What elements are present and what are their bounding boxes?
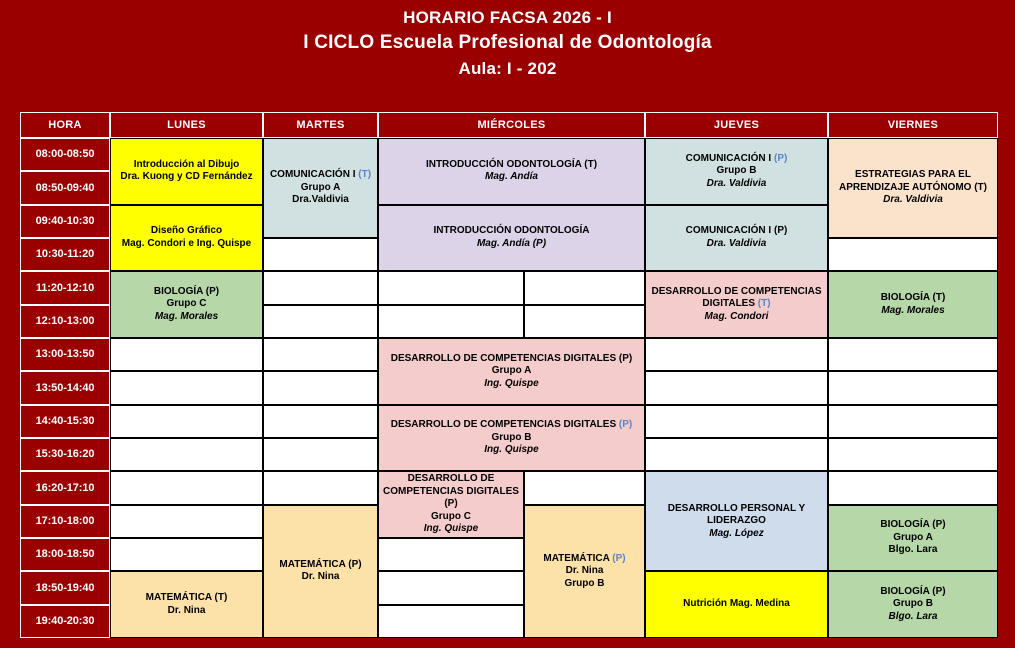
- schedule-entry-line: LIDERAZGO: [648, 515, 825, 528]
- empty-slot[interactable]: [263, 405, 378, 438]
- schedule-entry-line: BIOLOGÍA (T): [831, 292, 995, 305]
- schedule-entry-line: Dr. Nina: [266, 571, 375, 584]
- schedule-entry-line: Mag. Condori: [648, 311, 825, 324]
- schedule-entry-line: Grupo B: [648, 165, 825, 178]
- hour-label-cell: 10:30-11:20: [20, 238, 110, 271]
- schedule-entry-line: Ing. Quispe: [381, 444, 642, 457]
- column-header-label: LUNES: [113, 119, 260, 132]
- hour-label-cell: 11:20-12:10: [20, 271, 110, 304]
- session-type-tag: (T): [358, 169, 371, 180]
- schedule-entry-line: Blgo. Lara: [831, 611, 995, 624]
- schedule-entry[interactable]: COMUNICACIÓN I (P)Dra. Valdivia: [645, 205, 828, 272]
- empty-slot[interactable]: [828, 238, 998, 271]
- schedule-entry-line: Mag. Condori e Ing. Quispe: [113, 238, 260, 251]
- column-header-label: MARTES: [266, 119, 375, 132]
- schedule-table: HORALUNESMARTESMIÉRCOLESJUEVESVIERNES08:…: [20, 112, 998, 638]
- schedule-entry-line: BIOLOGÍA (P): [113, 286, 260, 299]
- schedule-entry-line: Dra. Kuong y CD Fernández: [113, 171, 260, 184]
- session-type-tag: (T): [758, 298, 771, 309]
- schedule-entry-line: Grupo B: [831, 598, 995, 611]
- column-header-label: VIERNES: [831, 119, 995, 132]
- schedule-entry-line: ESTRATEGIAS PARA EL: [831, 169, 995, 182]
- hour-label: 09:40-10:30: [23, 215, 107, 228]
- schedule-entry[interactable]: BIOLOGÍA (P)Grupo BBlgo. Lara: [828, 571, 998, 638]
- schedule-entry-line: Dra. Valdivia: [831, 194, 995, 207]
- empty-slot[interactable]: [263, 271, 378, 304]
- session-type-tag: (P): [774, 153, 787, 164]
- schedule-entry-line: COMUNICACIÓN I (T): [266, 169, 375, 182]
- empty-slot[interactable]: [828, 471, 998, 504]
- session-type-tag: (P): [619, 419, 632, 430]
- empty-slot[interactable]: [828, 371, 998, 404]
- schedule-entry-line: Nutrición Mag. Medina: [648, 598, 825, 611]
- title-line-3: Aula: I - 202: [0, 56, 1015, 82]
- empty-slot[interactable]: [110, 371, 263, 404]
- hour-label: 13:50-14:40: [23, 382, 107, 395]
- empty-slot[interactable]: [378, 305, 524, 338]
- schedule-entry-line: Grupo C: [113, 298, 260, 311]
- empty-slot[interactable]: [263, 471, 378, 504]
- hour-label-cell: 08:00-08:50: [20, 138, 110, 171]
- empty-slot[interactable]: [645, 405, 828, 438]
- schedule-entry[interactable]: DESARROLLO DE COMPETENCIAS DIGITALES (P)…: [378, 405, 645, 472]
- schedule-entry-line: Mag. López: [648, 528, 825, 541]
- schedule-entry[interactable]: ESTRATEGIAS PARA ELAPRENDIZAJE AUTÓNOMO …: [828, 138, 998, 238]
- session-type-tag: (P): [612, 553, 625, 564]
- hour-label-cell: 18:50-19:40: [20, 571, 110, 604]
- hour-label-cell: 19:40-20:30: [20, 605, 110, 638]
- hour-label: 18:00-18:50: [23, 548, 107, 561]
- hour-label: 16:20-17:10: [23, 482, 107, 495]
- schedule-entry-line: DESARROLLO PERSONAL Y: [648, 503, 825, 516]
- hour-label: 08:50-09:40: [23, 182, 107, 195]
- schedule-entry-line: COMPETENCIAS DIGITALES: [381, 486, 521, 499]
- schedule-entry-line: Grupo C: [381, 511, 521, 524]
- column-header-miércoles: MIÉRCOLES: [378, 112, 645, 138]
- schedule-entry-line: Mag. Morales: [831, 305, 995, 318]
- empty-slot[interactable]: [645, 371, 828, 404]
- empty-slot[interactable]: [828, 405, 998, 438]
- schedule-entry-line: Grupo A: [266, 182, 375, 195]
- empty-slot[interactable]: [378, 571, 524, 604]
- schedule-entry-line: BIOLOGÍA (P): [831, 586, 995, 599]
- schedule-entry-line: Dra.Valdivia: [266, 194, 375, 207]
- hour-label-cell: 17:10-18:00: [20, 505, 110, 538]
- schedule-entry[interactable]: Introducción al DibujoDra. Kuong y CD Fe…: [110, 138, 263, 205]
- hour-label: 12:10-13:00: [23, 315, 107, 328]
- hour-label: 11:20-12:10: [23, 282, 107, 295]
- empty-slot[interactable]: [378, 271, 524, 304]
- empty-slot[interactable]: [524, 271, 645, 304]
- column-header-martes: MARTES: [263, 112, 378, 138]
- schedule-entry-line: Dr. Nina: [527, 565, 642, 578]
- schedule-entry-line: INTRODUCCIÓN ODONTOLOGÍA (T): [381, 159, 642, 172]
- schedule-entry-line: Diseño Gráfico: [113, 225, 260, 238]
- schedule-entry-line: Dr. Nina: [113, 605, 260, 618]
- schedule-entry[interactable]: Diseño GráficoMag. Condori e Ing. Quispe: [110, 205, 263, 272]
- hour-label-cell: 09:40-10:30: [20, 205, 110, 238]
- schedule-entry-line: Blgo. Lara: [831, 544, 995, 557]
- schedule-entry[interactable]: MATEMÁTICA (P)Dr. NinaGrupo B: [524, 505, 645, 638]
- empty-slot[interactable]: [645, 438, 828, 471]
- empty-slot[interactable]: [110, 538, 263, 571]
- schedule-entry[interactable]: DESARROLLO PERSONAL YLIDERAZGOMag. López: [645, 471, 828, 571]
- schedule-entry-line: Dra. Valdivia: [648, 178, 825, 191]
- hour-label-cell: 15:30-16:20: [20, 438, 110, 471]
- hour-label: 13:00-13:50: [23, 348, 107, 361]
- schedule-entry[interactable]: DESARROLLO DECOMPETENCIAS DIGITALES(P)Gr…: [378, 471, 524, 538]
- hour-label-cell: 13:50-14:40: [20, 371, 110, 404]
- hour-label: 15:30-16:20: [23, 448, 107, 461]
- schedule-entry-line: Introducción al Dibujo: [113, 159, 260, 172]
- empty-slot[interactable]: [263, 438, 378, 471]
- schedule-entry-line: Grupo A: [831, 532, 995, 545]
- schedule-entry-line: Grupo B: [527, 578, 642, 591]
- hour-label: 14:40-15:30: [23, 415, 107, 428]
- hour-label: 19:40-20:30: [23, 615, 107, 628]
- schedule-entry[interactable]: COMUNICACIÓN I (T)Grupo ADra.Valdivia: [263, 138, 378, 238]
- schedule-entry-line: DESARROLLO DE COMPETENCIAS DIGITALES (P): [381, 353, 642, 366]
- schedule-entry-line: APRENDIZAJE AUTÓNOMO (T): [831, 182, 995, 195]
- empty-slot[interactable]: [263, 238, 378, 271]
- schedule-entry[interactable]: MATEMÁTICA (P)Dr. Nina: [263, 505, 378, 638]
- empty-slot[interactable]: [263, 305, 378, 338]
- title-line-1: HORARIO FACSA 2026 - I: [0, 6, 1015, 30]
- column-header-label: HORA: [23, 119, 107, 132]
- schedule-entry-line: DESARROLLO DE: [381, 473, 521, 486]
- column-header-viernes: VIERNES: [828, 112, 998, 138]
- schedule-entry-line: Grupo A: [381, 365, 642, 378]
- schedule-entry-line: MATEMÁTICA (P): [266, 559, 375, 572]
- schedule-entry-line: Grupo B: [381, 432, 642, 445]
- empty-slot[interactable]: [110, 438, 263, 471]
- schedule-entry[interactable]: MATEMÁTICA (T)Dr. Nina: [110, 571, 263, 638]
- schedule-entry[interactable]: INTRODUCCIÓN ODONTOLOGÍA (T)Mag. Andía: [378, 138, 645, 205]
- schedule-entry-line: Ing. Quispe: [381, 523, 521, 536]
- schedule-entry[interactable]: Nutrición Mag. Medina: [645, 571, 828, 638]
- column-header-label: MIÉRCOLES: [381, 119, 642, 132]
- hour-label-cell: 13:00-13:50: [20, 338, 110, 371]
- empty-slot[interactable]: [828, 338, 998, 371]
- schedule-entry-line: Mag. Morales: [113, 311, 260, 324]
- column-header-jueves: JUEVES: [645, 112, 828, 138]
- empty-slot[interactable]: [378, 605, 524, 638]
- empty-slot[interactable]: [110, 405, 263, 438]
- empty-slot[interactable]: [524, 305, 645, 338]
- schedule-entry-line: MATEMÁTICA (P): [527, 553, 642, 566]
- empty-slot[interactable]: [524, 471, 645, 504]
- empty-slot[interactable]: [110, 505, 263, 538]
- schedule-entry[interactable]: BIOLOGÍA (P)Grupo ABlgo. Lara: [828, 505, 998, 572]
- hour-label: 10:30-11:20: [23, 248, 107, 261]
- schedule-entry-line: Mag. Andía: [381, 171, 642, 184]
- empty-slot[interactable]: [110, 338, 263, 371]
- page-title-block: HORARIO FACSA 2026 - I I CICLO Escuela P…: [0, 6, 1015, 82]
- hour-label: 08:00-08:50: [23, 148, 107, 161]
- empty-slot[interactable]: [378, 538, 524, 571]
- schedule-entry-line: (P): [381, 498, 521, 511]
- hour-label: 18:50-19:40: [23, 582, 107, 595]
- empty-slot[interactable]: [263, 371, 378, 404]
- empty-slot[interactable]: [263, 338, 378, 371]
- hour-label-cell: 12:10-13:00: [20, 305, 110, 338]
- hour-label-cell: 16:20-17:10: [20, 471, 110, 504]
- column-header-label: JUEVES: [648, 119, 825, 132]
- hour-label-cell: 18:00-18:50: [20, 538, 110, 571]
- empty-slot[interactable]: [645, 338, 828, 371]
- column-header-hora: HORA: [20, 112, 110, 138]
- schedule-entry-line: Ing. Quispe: [381, 378, 642, 391]
- schedule-entry[interactable]: BIOLOGÍA (P)Grupo CMag. Morales: [110, 271, 263, 338]
- schedule-entry-line: BIOLOGÍA (P): [831, 519, 995, 532]
- schedule-entry-line: Dra. Valdivia: [648, 238, 825, 251]
- schedule-entry-line: DESARROLLO DE COMPETENCIAS: [648, 286, 825, 299]
- schedule-entry-line: MATEMÁTICA (T): [113, 592, 260, 605]
- schedule-entry-line: Mag. Andía (P): [381, 238, 642, 251]
- schedule-entry-line: INTRODUCCIÓN ODONTOLOGÍA: [381, 225, 642, 238]
- column-header-lunes: LUNES: [110, 112, 263, 138]
- empty-slot[interactable]: [110, 471, 263, 504]
- empty-slot[interactable]: [828, 438, 998, 471]
- schedule-entry[interactable]: INTRODUCCIÓN ODONTOLOGÍAMag. Andía (P): [378, 205, 645, 272]
- title-line-2: I CICLO Escuela Profesional de Odontolog…: [0, 30, 1015, 56]
- schedule-entry-line: DIGITALES (T): [648, 298, 825, 311]
- schedule-entry-line: DESARROLLO DE COMPETENCIAS DIGITALES (P): [381, 419, 642, 432]
- hour-label-cell: 08:50-09:40: [20, 171, 110, 204]
- schedule-entry[interactable]: BIOLOGÍA (T)Mag. Morales: [828, 271, 998, 338]
- schedule-entry[interactable]: DESARROLLO DE COMPETENCIAS DIGITALES (P)…: [378, 338, 645, 405]
- schedule-entry[interactable]: DESARROLLO DE COMPETENCIASDIGITALES (T)M…: [645, 271, 828, 338]
- schedule-entry-line: COMUNICACIÓN I (P): [648, 225, 825, 238]
- schedule-entry[interactable]: COMUNICACIÓN I (P)Grupo BDra. Valdivia: [645, 138, 828, 205]
- schedule-entry-line: COMUNICACIÓN I (P): [648, 153, 825, 166]
- hour-label: 17:10-18:00: [23, 515, 107, 528]
- hour-label-cell: 14:40-15:30: [20, 405, 110, 438]
